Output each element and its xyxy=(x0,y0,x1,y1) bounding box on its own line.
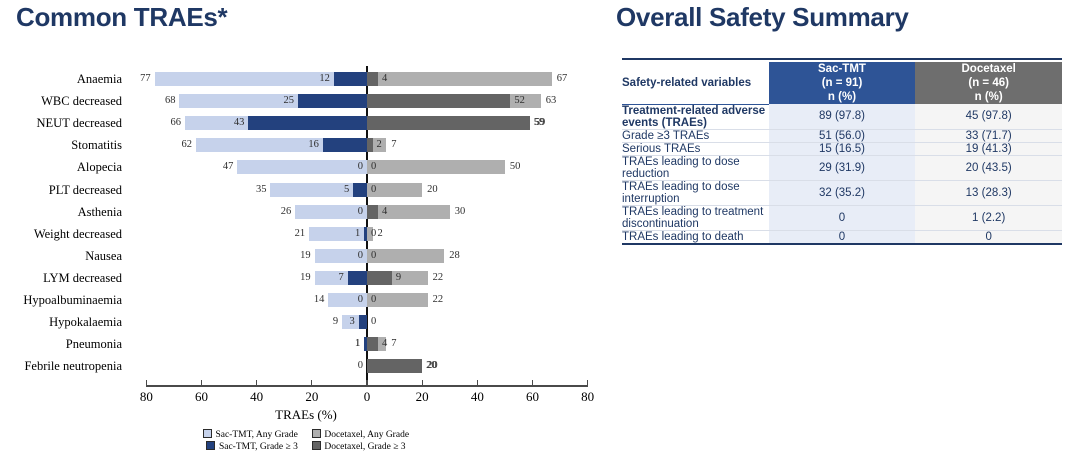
chart-category-label: Febrile neutropenia xyxy=(0,359,122,373)
x-axis-tick xyxy=(201,380,202,385)
bar-value-docetaxel-grade3: 0 xyxy=(371,183,376,197)
cell-docetaxel-value: 20 (43.5) xyxy=(915,155,1062,180)
chart-category-label: Weight decreased xyxy=(0,227,122,241)
cell-safety-variable: Grade ≥3 TRAEs xyxy=(622,129,769,142)
x-axis-tick xyxy=(422,380,423,385)
cell-sac-tmt-value: 51 (56.0) xyxy=(769,129,916,142)
column-header-safety-variables: Safety-related variables xyxy=(622,62,769,104)
bar-segment-sac-grade3 xyxy=(348,271,367,285)
chart-legend-item: Docetaxel, Any Grade xyxy=(312,429,409,441)
legend-swatch-icon xyxy=(206,441,215,450)
cell-safety-variable: TRAEs leading to treatment discontinuati… xyxy=(622,205,769,230)
table-header-row: Safety-related variablesSac-TMT(n = 91)n… xyxy=(622,62,1062,104)
bar-value-docetaxel-grade3: 4 xyxy=(382,72,387,86)
bar-segment-docetaxel-grade3 xyxy=(367,271,392,285)
cell-safety-variable: Serious TRAEs xyxy=(622,142,769,155)
x-axis-line xyxy=(146,385,587,386)
bar-segment-sac-grade3 xyxy=(353,183,367,197)
cell-safety-variable: TRAEs leading to dose reduction xyxy=(622,155,769,180)
bar-value-docetaxel-any-grade: 30 xyxy=(455,205,466,219)
bar-value-sac-any-grade: 26 xyxy=(245,205,291,219)
chart-category-label: Nausea xyxy=(0,249,122,263)
bar-value-sac-grade3: 7 xyxy=(300,271,344,285)
x-axis-tick-label: 40 xyxy=(457,389,497,405)
chart-legend-row: Sac-TMT, Any GradeDocetaxel, Any Grade xyxy=(0,429,612,441)
bar-value-sac-grade3: 1 xyxy=(316,227,360,241)
bar-segment-docetaxel-any-grade xyxy=(367,72,552,86)
chart-legend-item: Sac-TMT, Any Grade xyxy=(203,429,298,441)
bar-segment-docetaxel-grade3 xyxy=(367,72,378,86)
page-title-overall-safety-summary: Overall Safety Summary xyxy=(616,2,909,33)
bar-value-sac-any-grade: 14 xyxy=(278,293,324,307)
bar-value-docetaxel-grade3: 9 xyxy=(396,271,401,285)
x-axis-tick xyxy=(311,380,312,385)
bar-segment-docetaxel-grade3 xyxy=(367,337,378,351)
bar-segment-docetaxel-any-grade xyxy=(367,160,505,174)
bar-value-sac-any-grade: 66 xyxy=(135,116,181,130)
chart-legend-label: Sac-TMT, Any Grade xyxy=(215,430,297,440)
chart-legend-row: Sac-TMT, Grade ≥ 3Docetaxel, Grade ≥ 3 xyxy=(0,441,612,453)
bar-value-docetaxel-any-grade: 7 xyxy=(391,337,396,351)
bar-segment-docetaxel-grade3 xyxy=(367,116,530,130)
cell-docetaxel-value: 1 (2.2) xyxy=(915,205,1062,230)
table-row: Grade ≥3 TRAEs51 (56.0)33 (71.7) xyxy=(622,129,1062,142)
bar-segment-docetaxel-grade3 xyxy=(367,359,422,373)
x-axis-title: TRAEs (%) xyxy=(0,407,612,423)
bar-value-sac-grade3: 0 xyxy=(319,359,363,373)
chart-legend-label: Docetaxel, Grade ≥ 3 xyxy=(324,442,405,452)
x-axis-tick xyxy=(366,380,367,385)
column-header-line: Docetaxel xyxy=(915,62,1062,76)
chart-plot-area: Anaemia7712467WBC decreased68255263NEUT … xyxy=(0,60,612,390)
column-header-line: (n = 46) xyxy=(915,76,1062,90)
cell-safety-variable: TRAEs leading to dose interruption xyxy=(622,180,769,205)
cell-sac-tmt-value: 0 xyxy=(769,230,916,244)
bar-value-sac-grade3: 25 xyxy=(250,94,294,108)
x-axis-tick-label: 40 xyxy=(237,389,277,405)
chart-category-label: Hypoalbuminaemia xyxy=(0,293,122,307)
cell-docetaxel-value: 19 (41.3) xyxy=(915,142,1062,155)
cell-sac-tmt-value: 89 (97.8) xyxy=(769,104,916,129)
column-header-line: n (%) xyxy=(769,90,916,104)
chart-category-label: NEUT decreased xyxy=(0,116,122,130)
x-axis-tick-label: 0 xyxy=(347,389,387,405)
chart-legend-label: Sac-TMT, Grade ≥ 3 xyxy=(219,442,298,452)
x-axis-tick xyxy=(146,380,147,385)
column-header-docetaxel: Docetaxel(n = 46)n (%) xyxy=(915,62,1062,104)
chart-category-label: Alopecia xyxy=(0,160,122,174)
x-axis-tick xyxy=(256,380,257,385)
bar-value-docetaxel-any-grade: 22 xyxy=(433,271,444,285)
chart-category-label: Hypokalaemia xyxy=(0,315,122,329)
bar-value-docetaxel-any-grade: 67 xyxy=(557,72,568,86)
table-row: TRAEs leading to treatment discontinuati… xyxy=(622,205,1062,230)
bar-value-docetaxel-any-grade: 20 xyxy=(427,359,438,373)
cell-docetaxel-value: 0 xyxy=(915,230,1062,244)
chart-category-label: LYM decreased xyxy=(0,271,122,285)
chart-category-label: WBC decreased xyxy=(0,94,122,108)
chart-category-label: Stomatitis xyxy=(0,138,122,152)
cell-docetaxel-value: 33 (71.7) xyxy=(915,129,1062,142)
table-row: TRAEs leading to death00 xyxy=(622,230,1062,244)
bar-value-sac-any-grade: 62 xyxy=(146,138,192,152)
bar-value-sac-any-grade: 47 xyxy=(187,160,233,174)
table-row: Serious TRAEs15 (16.5)19 (41.3) xyxy=(622,142,1062,155)
bar-value-sac-grade3: 43 xyxy=(200,116,244,130)
x-axis-tick xyxy=(477,380,478,385)
cell-docetaxel-value: 13 (28.3) xyxy=(915,180,1062,205)
cell-sac-tmt-value: 32 (35.2) xyxy=(769,180,916,205)
chart-legend-label: Docetaxel, Any Grade xyxy=(324,430,409,440)
x-axis-tick-label: 20 xyxy=(292,389,332,405)
bar-value-sac-grade3: 0 xyxy=(319,205,363,219)
bar-segment-docetaxel-any-grade xyxy=(367,205,450,219)
common-traes-chart: Anaemia7712467WBC decreased68255263NEUT … xyxy=(0,60,612,458)
chart-legend: Sac-TMT, Any GradeDocetaxel, Any GradeSa… xyxy=(0,429,612,453)
table-bottom-rule xyxy=(622,244,1062,247)
chart-legend-item: Docetaxel, Grade ≥ 3 xyxy=(312,441,406,453)
bar-value-docetaxel-grade3: 4 xyxy=(382,205,387,219)
x-axis-tick xyxy=(587,380,588,385)
cell-safety-variable: Treatment-related adverse events (TRAEs) xyxy=(622,104,769,129)
column-header-sac-tmt: Sac-TMT(n = 91)n (%) xyxy=(769,62,916,104)
bar-segment-sac-grade3 xyxy=(334,72,367,86)
column-header-line: (n = 91) xyxy=(769,76,916,90)
bar-value-docetaxel-grade3: 0 xyxy=(371,227,376,241)
bar-value-docetaxel-grade3: 0 xyxy=(371,315,376,329)
table-row: TRAEs leading to dose reduction29 (31.9)… xyxy=(622,155,1062,180)
bar-value-sac-grade3: 16 xyxy=(275,138,319,152)
bar-segment-docetaxel-any-grade xyxy=(367,249,444,263)
bar-value-docetaxel-any-grade: 50 xyxy=(510,160,521,174)
chart-category-label: PLT decreased xyxy=(0,183,122,197)
bar-value-docetaxel-any-grade: 59 xyxy=(535,116,546,130)
x-axis-tick-label: 60 xyxy=(512,389,552,405)
cell-sac-tmt-value: 0 xyxy=(769,205,916,230)
bar-value-sac-grade3: 1 xyxy=(316,337,360,351)
cell-sac-tmt-value: 29 (31.9) xyxy=(769,155,916,180)
chart-category-label: Pneumonia xyxy=(0,337,122,351)
page-title-common-traes: Common TRAEs* xyxy=(16,2,227,33)
chart-category-label: Asthenia xyxy=(0,205,122,219)
x-axis-tick-label: 80 xyxy=(126,389,166,405)
bar-value-sac-grade3: 5 xyxy=(305,183,349,197)
bar-value-docetaxel-any-grade: 28 xyxy=(449,249,460,263)
cell-sac-tmt-value: 15 (16.5) xyxy=(769,142,916,155)
bar-value-docetaxel-grade3: 52 xyxy=(514,94,525,108)
bar-value-docetaxel-grade3: 0 xyxy=(371,160,376,174)
bar-segment-sac-grade3 xyxy=(359,315,367,329)
column-header-line: Sac-TMT xyxy=(769,62,916,76)
bar-value-sac-any-grade: 35 xyxy=(220,183,266,197)
x-axis-tick-label: 60 xyxy=(182,389,222,405)
legend-swatch-icon xyxy=(203,429,212,438)
bar-value-sac-grade3: 0 xyxy=(319,160,363,174)
x-axis-tick-label: 20 xyxy=(402,389,442,405)
legend-swatch-icon xyxy=(312,429,321,438)
overall-safety-summary-table: Safety-related variablesSac-TMT(n = 91)n… xyxy=(622,58,1062,247)
bar-value-sac-any-grade: 77 xyxy=(105,72,151,86)
bar-segment-sac-grade3 xyxy=(323,138,367,152)
bar-value-docetaxel-any-grade: 2 xyxy=(378,227,383,241)
x-axis-tick-label: 80 xyxy=(568,389,608,405)
table-row: TRAEs leading to dose interruption32 (35… xyxy=(622,180,1062,205)
column-header-line: n (%) xyxy=(915,90,1062,104)
bar-value-sac-any-grade: 21 xyxy=(259,227,305,241)
bar-value-sac-any-grade: 68 xyxy=(129,94,175,108)
bar-segment-docetaxel-grade3 xyxy=(367,94,510,108)
bar-value-docetaxel-any-grade: 20 xyxy=(427,183,438,197)
x-axis-tick xyxy=(532,380,533,385)
bar-value-docetaxel-any-grade: 7 xyxy=(391,138,396,152)
bar-value-docetaxel-any-grade: 63 xyxy=(546,94,557,108)
table-row: Treatment-related adverse events (TRAEs)… xyxy=(622,104,1062,129)
bar-value-sac-grade3: 0 xyxy=(319,293,363,307)
bar-value-sac-grade3: 12 xyxy=(286,72,330,86)
bar-value-docetaxel-any-grade: 22 xyxy=(433,293,444,307)
bar-value-sac-grade3: 3 xyxy=(311,315,355,329)
cell-docetaxel-value: 45 (97.8) xyxy=(915,104,1062,129)
legend-swatch-icon xyxy=(312,441,321,450)
bar-segment-sac-grade3 xyxy=(298,94,367,108)
bar-value-docetaxel-grade3: 0 xyxy=(371,249,376,263)
cell-safety-variable: TRAEs leading to death xyxy=(622,230,769,244)
bar-segment-docetaxel-grade3 xyxy=(367,138,373,152)
bar-value-sac-any-grade: 19 xyxy=(265,249,311,263)
bar-segment-sac-grade3 xyxy=(248,116,367,130)
bar-value-docetaxel-grade3: 0 xyxy=(371,293,376,307)
bar-value-docetaxel-grade3: 2 xyxy=(377,138,382,152)
bar-value-sac-grade3: 0 xyxy=(319,249,363,263)
chart-legend-item: Sac-TMT, Grade ≥ 3 xyxy=(206,441,297,453)
bar-value-docetaxel-grade3: 4 xyxy=(382,337,387,351)
bar-segment-docetaxel-grade3 xyxy=(367,205,378,219)
